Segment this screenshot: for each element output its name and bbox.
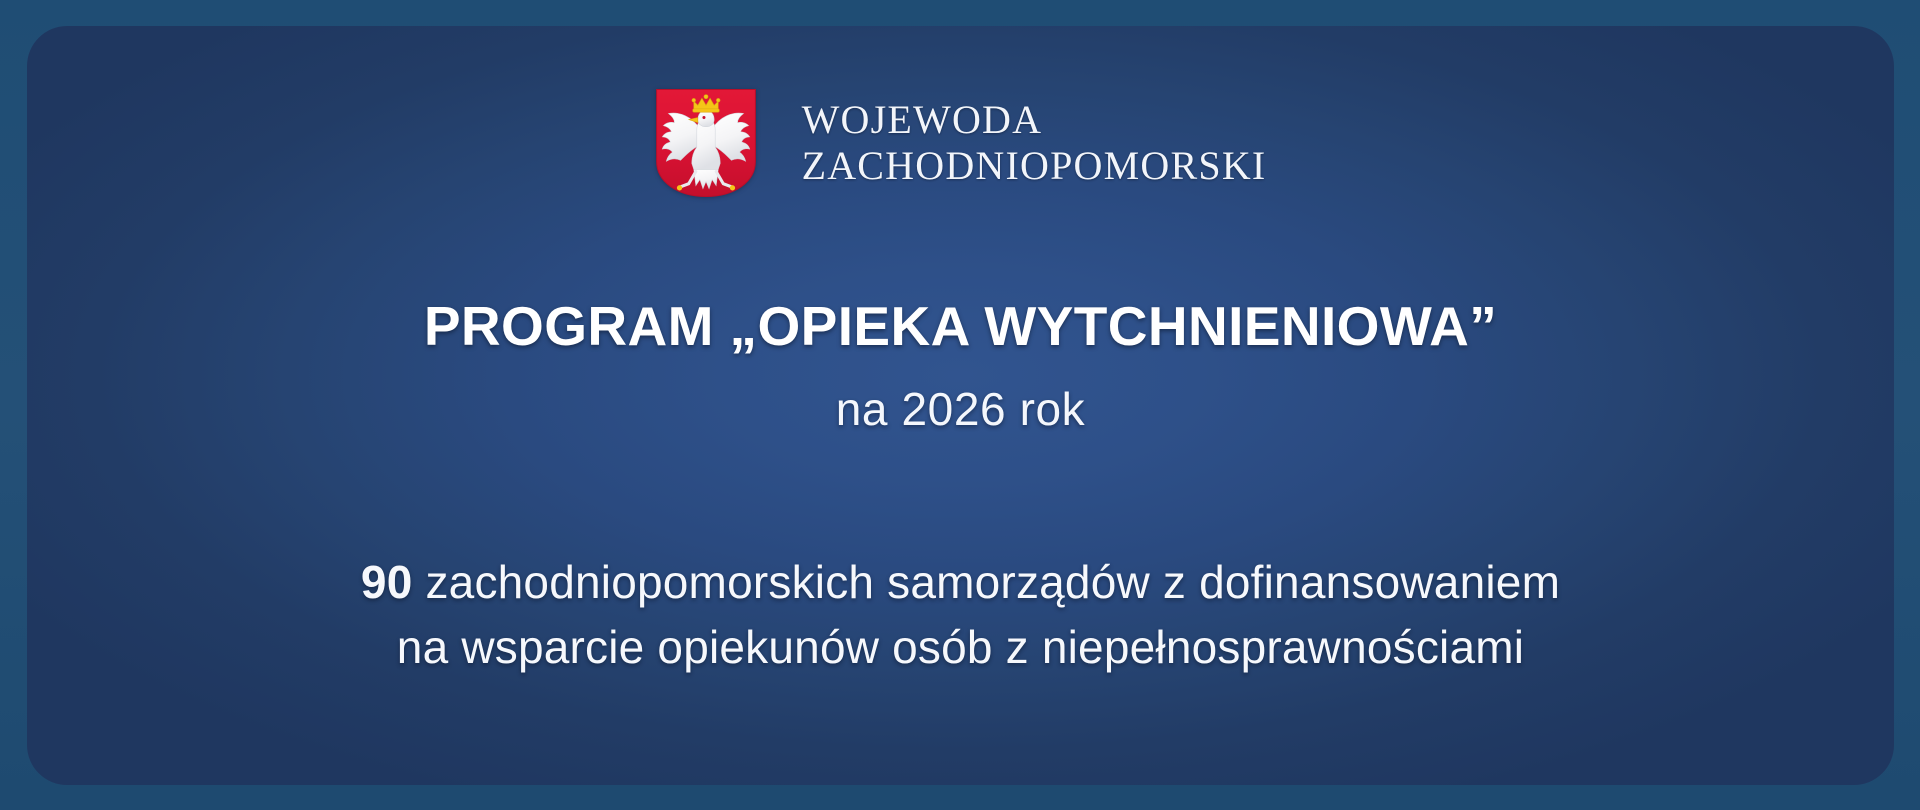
summary-line-1-rest: zachodniopomorskich samorządów z dofinan…: [412, 556, 1560, 608]
authority-name: WOJEWODA ZACHODNIOPOMORSKI: [802, 97, 1267, 190]
authority-line-2: ZACHODNIOPOMORSKI: [802, 143, 1267, 189]
program-year: na 2026 rok: [27, 382, 1894, 436]
poster-header: WOJEWODA ZACHODNIOPOMORSKI: [27, 88, 1894, 198]
poster-panel: WOJEWODA ZACHODNIOPOMORSKI PROGRAM „OPIE…: [27, 26, 1894, 785]
authority-line-1: WOJEWODA: [802, 97, 1267, 143]
polish-coat-of-arms-icon: [655, 88, 757, 198]
summary-line-1: 90 zachodniopomorskich samorządów z dofi…: [27, 550, 1894, 615]
summary-statement: 90 zachodniopomorskich samorządów z dofi…: [27, 550, 1894, 681]
program-title: PROGRAM „OPIEKA WYTCHNIENIOWA”: [27, 294, 1894, 358]
summary-line-2: na wsparcie opiekunów osób z niepełnospr…: [27, 615, 1894, 680]
municipality-count: 90: [361, 556, 413, 608]
poster-frame: WOJEWODA ZACHODNIOPOMORSKI PROGRAM „OPIE…: [0, 0, 1920, 810]
